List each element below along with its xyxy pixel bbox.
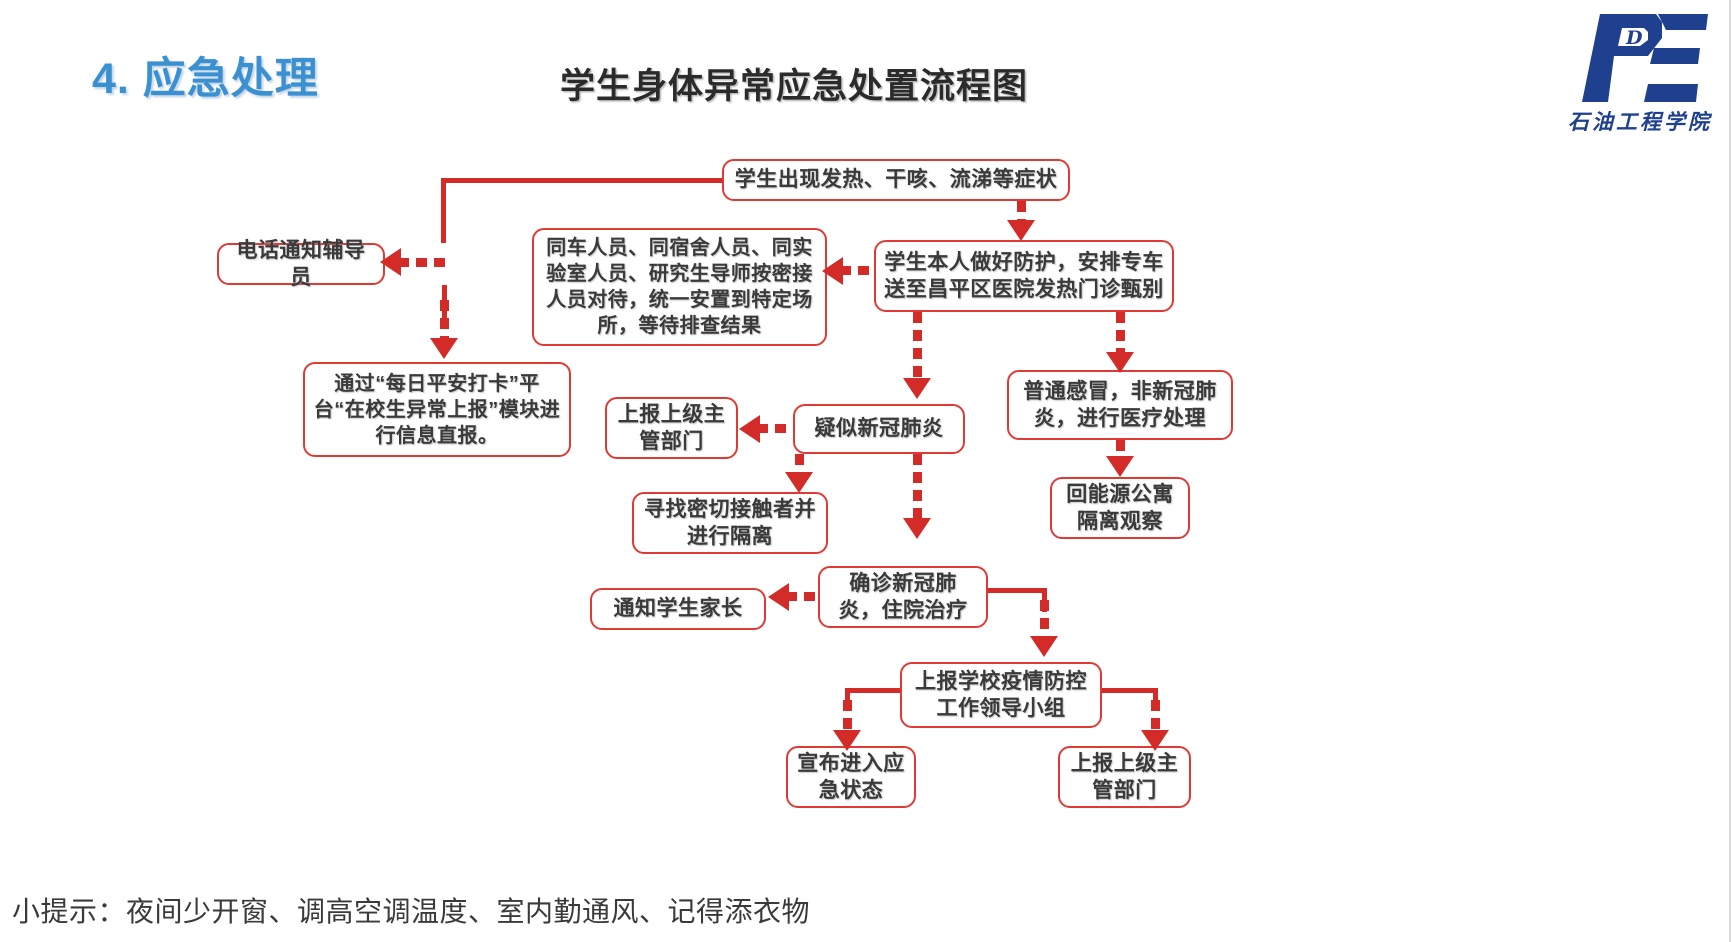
edge-transport-to-contacts-dash [840, 266, 876, 275]
flow-node-return-dorm-observation: 回能源公寓隔离观察 [1050, 477, 1190, 539]
edge-counselor-to-report-arrowhead [430, 338, 458, 359]
edge-suspected-to-confirmed-arrowhead [903, 518, 931, 539]
edge-taskforce-to-emergency-arrowhead [833, 730, 861, 751]
flow-node-suspected-covid: 疑似新冠肺炎 [793, 404, 965, 454]
flow-node-notify-parents: 通知学生家长 [590, 588, 766, 630]
flow-node-common-cold: 普通感冒，非新冠肺炎，进行医疗处理 [1007, 370, 1233, 440]
edge-symptoms-to-counselor-arrowhead [380, 248, 401, 276]
flow-node-report-superior-bottom: 上报上级主管部门 [1058, 746, 1191, 808]
flow-node-daily-checkin-report: 通过“每日平安打卡”平台“在校生异常上报”模块进行信息直报。 [303, 362, 571, 457]
edge-suspected-to-confirmed-dash [913, 454, 922, 524]
flowchart-title: 学生身体异常应急处置流程图 [560, 58, 1028, 109]
footer-tip: 小提示：夜间少开窗、调高空调温度、室内勤通风、记得添衣物 [12, 890, 810, 930]
edge-suspected-to-superior-dash [757, 424, 791, 433]
edge-confirmed-to-parents-arrowhead [768, 583, 789, 611]
flow-node-close-contacts: 同车人员、同宿舍人员、同实验室人员、研究生导师按密接人员对待，统一安置到特定场所… [532, 228, 827, 346]
edge-transport-to-suspected-arrowhead [903, 378, 931, 399]
edge-symptoms-to-counselor-h [441, 178, 724, 183]
flow-node-symptoms: 学生出现发热、干咳、流涕等症状 [722, 159, 1070, 201]
svg-text:D: D [1625, 27, 1643, 49]
college-logo: D 石油工程学院 [1560, 12, 1720, 137]
edge-symptoms-to-counselor-v [441, 178, 446, 243]
edge-transport-to-commoncold-arrowhead [1106, 352, 1134, 373]
edge-transport-to-contacts-arrowhead [822, 257, 843, 285]
slide-canvas: 4. 应急处理 学生身体异常应急处置流程图 D 石油工程学院 学生出现发热、干咳… [0, 0, 1731, 942]
flow-node-report-school-taskforce: 上报学校疫情防控工作领导小组 [900, 662, 1102, 728]
page-title: 4. 应急处理 [92, 44, 319, 106]
edge-confirmed-to-parents-dash [786, 592, 816, 601]
flow-node-report-superior-top: 上报上级主管部门 [605, 397, 738, 459]
logo-org-name: 石油工程学院 [1560, 106, 1720, 136]
edge-taskforce-to-superior-arrowhead [1141, 730, 1169, 751]
flow-node-trace-and-isolate: 寻找密切接触者并进行隔离 [632, 492, 828, 554]
edge-commoncold-to-dorm-arrowhead [1106, 456, 1134, 477]
edge-confirmed-to-taskforce-arrowhead [1030, 636, 1058, 657]
edge-symptoms-to-counselor-dash [398, 258, 446, 267]
edge-confirmed-to-taskforce-h [985, 588, 1047, 593]
edge-taskforce-to-emergency-h [845, 688, 903, 693]
edge-suspected-to-tracing-arrowhead [785, 472, 813, 493]
edge-suspected-to-superior-arrowhead [739, 415, 760, 443]
edge-symptoms-to-transport-arrowhead [1007, 220, 1035, 241]
pe-monogram-icon: D [1570, 12, 1710, 104]
edge-counselor-to-report-dash [440, 300, 449, 342]
flow-node-declare-emergency: 宣布进入应急状态 [786, 746, 916, 808]
flow-node-transport-to-hospital: 学生本人做好防护，安排专车送至昌平区医院发热门诊甄别 [874, 240, 1174, 312]
edge-taskforce-to-superior-h [1100, 688, 1158, 693]
edge-transport-to-suspected-dash [913, 312, 922, 380]
flow-node-confirmed-covid: 确诊新冠肺炎，住院治疗 [818, 566, 988, 628]
flow-node-notify-counselor: 电话通知辅导员 [217, 243, 385, 285]
